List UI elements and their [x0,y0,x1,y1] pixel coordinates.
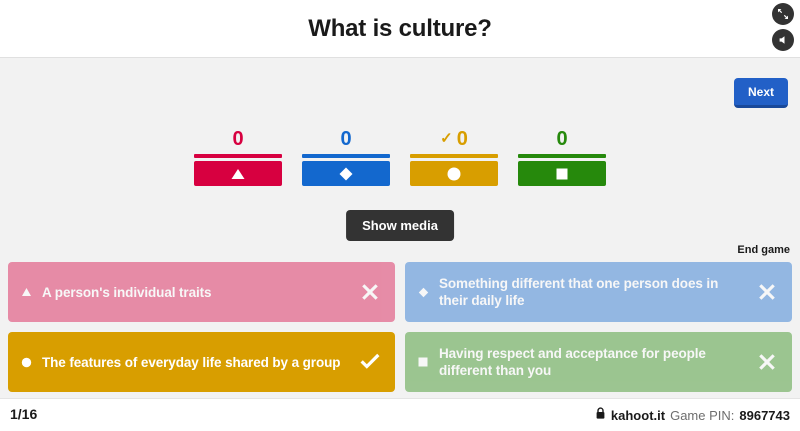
volume-speaker-icon[interactable] [772,29,794,51]
correct-check-icon: ✓ [440,129,453,149]
distribution-count-blue-value: 0 [340,129,351,149]
answer-text-yellow: The features of everyday life shared by … [42,354,351,371]
diamond-icon [415,287,431,298]
circle-icon [18,357,34,368]
header-icon-group [772,3,794,51]
distribution-count-red-value: 0 [232,129,243,149]
diamond-icon [338,166,354,182]
distribution-count-yellow-value: 0 [457,129,468,149]
distribution-cap-yellow [410,154,498,158]
distribution-bar-yellow: ✓ 0 [410,128,498,186]
square-icon [555,167,569,181]
distribution-body-yellow [410,161,498,186]
bottom-footer-bar: 1/16 kahoot.it Game PIN: 8967743 [0,398,800,431]
kahoot-brand-label: kahoot.it [611,408,665,423]
distribution-body-red [194,161,282,186]
next-button[interactable]: Next [734,78,788,108]
triangle-icon [18,287,34,297]
distribution-count-yellow: ✓ 0 [440,128,468,150]
game-stage: Next 0 0 [0,58,800,398]
distribution-body-blue [302,161,390,186]
game-pin-value: 8967743 [739,408,790,423]
question-counter: 1/16 [10,406,37,422]
distribution-body-green [518,161,606,186]
distribution-count-green: 0 [556,128,567,150]
answer-tile-red[interactable]: A person's individual traits [8,262,395,322]
cross-icon [754,351,780,373]
game-pin-label: Game PIN: [670,408,734,423]
distribution-cap-green [518,154,606,158]
fullscreen-expand-icon[interactable] [772,3,794,25]
distribution-count-green-value: 0 [556,129,567,149]
square-icon [415,357,431,367]
answer-distribution-chart: 0 0 ✓ 0 [0,128,800,186]
distribution-count-red: 0 [232,128,243,150]
distribution-count-blue: 0 [340,128,351,150]
answer-options-grid: A person's individual traits Something d… [8,262,792,392]
distribution-cap-blue [302,154,390,158]
lock-icon [595,407,606,423]
cross-icon [754,281,780,303]
circle-icon [446,166,462,182]
answer-text-red: A person's individual traits [42,284,351,301]
distribution-bar-red: 0 [194,128,282,186]
distribution-cap-red [194,154,282,158]
page-title: What is culture? [0,0,800,57]
top-header-bar: What is culture? [0,0,800,58]
distribution-bar-blue: 0 [302,128,390,186]
distribution-bar-green: 0 [518,128,606,186]
answer-tile-yellow[interactable]: The features of everyday life shared by … [8,332,395,392]
show-media-button[interactable]: Show media [346,210,454,241]
check-icon [357,351,383,373]
answer-text-blue: Something different that one person does… [439,275,748,309]
triangle-icon [230,167,246,181]
answer-tile-blue[interactable]: Something different that one person does… [405,262,792,322]
cross-icon [357,281,383,303]
answer-tile-green[interactable]: Having respect and acceptance for people… [405,332,792,392]
game-pin-area: kahoot.it Game PIN: 8967743 [595,407,790,423]
end-game-link[interactable]: End game [737,244,790,256]
answer-text-green: Having respect and acceptance for people… [439,345,748,379]
